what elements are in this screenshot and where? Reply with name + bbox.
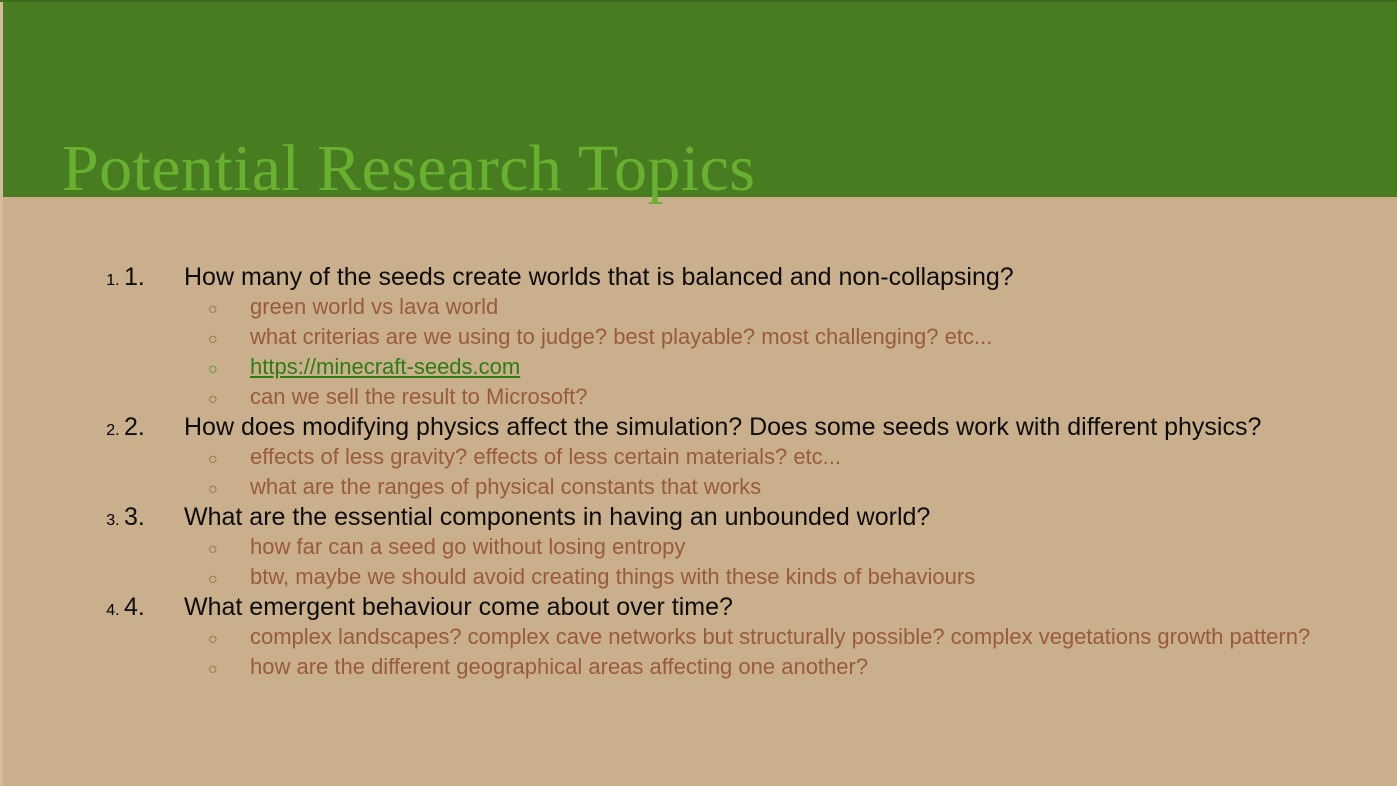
topic-number: 3. — [124, 502, 184, 532]
circle-bullet-icon: ○ — [208, 535, 250, 565]
sub-bullet-text: effects of less gravity? effects of less… — [250, 442, 841, 472]
page-title: Potential Research Topics — [62, 132, 755, 206]
topic-item: 2.How does modifying physics affect the … — [124, 412, 1377, 502]
sub-bullet-row: ○can we sell the result to Microsoft? — [124, 382, 1377, 412]
sub-bullet-row: ○complex landscapes? complex cave networ… — [124, 622, 1377, 652]
topic-text: How many of the seeds create worlds that… — [184, 262, 1014, 292]
circle-bullet-icon: ○ — [208, 625, 250, 655]
topic-text: How does modifying physics affect the si… — [184, 412, 1261, 442]
sub-bullet-text: how far can a seed go without losing ent… — [250, 532, 685, 562]
sub-bullet-text: complex landscapes? complex cave network… — [250, 622, 1310, 652]
sub-bullet-text: how are the different geographical areas… — [250, 652, 868, 682]
sub-bullet-row: ○what are the ranges of physical constan… — [124, 472, 1377, 502]
topic-number: 2. — [124, 412, 184, 442]
sub-bullet-list: ○green world vs lava world○what criteria… — [124, 292, 1377, 412]
sub-bullet-row: ○effects of less gravity? effects of les… — [124, 442, 1377, 472]
external-link[interactable]: https://minecraft-seeds.com — [250, 352, 520, 382]
sub-bullet-row: ○https://minecraft-seeds.com — [124, 352, 1377, 382]
sub-bullet-text: green world vs lava world — [250, 292, 498, 322]
sub-bullet-row: ○what criterias are we using to judge? b… — [124, 322, 1377, 352]
slide-body: 1.How many of the seeds create worlds th… — [0, 197, 1397, 786]
sub-bullet-row: ○green world vs lava world — [124, 292, 1377, 322]
topic-item: 4.What emergent behaviour come about ove… — [124, 592, 1377, 682]
sub-bullet-list: ○how far can a seed go without losing en… — [124, 532, 1377, 592]
sub-bullet-text: can we sell the result to Microsoft? — [250, 382, 587, 412]
topic-row: 2.How does modifying physics affect the … — [124, 412, 1377, 442]
sub-bullet-row: ○how far can a seed go without losing en… — [124, 532, 1377, 562]
topic-row: 3.What are the essential components in h… — [124, 502, 1377, 532]
topic-row: 4.What emergent behaviour come about ove… — [124, 592, 1377, 622]
circle-bullet-icon: ○ — [208, 295, 250, 325]
topic-item: 3.What are the essential components in h… — [124, 502, 1377, 592]
topic-item: 1.How many of the seeds create worlds th… — [124, 262, 1377, 412]
sub-bullet-text: what criterias are we using to judge? be… — [250, 322, 992, 352]
circle-bullet-icon: ○ — [208, 325, 250, 355]
sub-bullet-list: ○complex landscapes? complex cave networ… — [124, 622, 1377, 682]
circle-bullet-icon: ○ — [208, 655, 250, 685]
circle-bullet-icon: ○ — [208, 475, 250, 505]
presentation-slide: Potential Research Topics 1.How many of … — [0, 0, 1397, 786]
circle-bullet-icon: ○ — [208, 385, 250, 415]
topic-number: 4. — [124, 592, 184, 622]
slide-top-edge — [0, 0, 1397, 2]
circle-bullet-icon: ○ — [208, 355, 250, 385]
topic-text: What emergent behaviour come about over … — [184, 592, 733, 622]
sub-bullet-row: ○how are the different geographical area… — [124, 652, 1377, 682]
circle-bullet-icon: ○ — [208, 565, 250, 595]
topic-number: 1. — [124, 262, 184, 292]
sub-bullet-text: btw, maybe we should avoid creating thin… — [250, 562, 975, 592]
sub-bullet-row: ○btw, maybe we should avoid creating thi… — [124, 562, 1377, 592]
circle-bullet-icon: ○ — [208, 445, 250, 475]
slide-left-edge — [0, 0, 3, 786]
topic-row: 1.How many of the seeds create worlds th… — [124, 262, 1377, 292]
topic-text: What are the essential components in hav… — [184, 502, 930, 532]
research-topics-list: 1.How many of the seeds create worlds th… — [84, 262, 1377, 682]
sub-bullet-text: what are the ranges of physical constant… — [250, 472, 761, 502]
sub-bullet-list: ○effects of less gravity? effects of les… — [124, 442, 1377, 502]
